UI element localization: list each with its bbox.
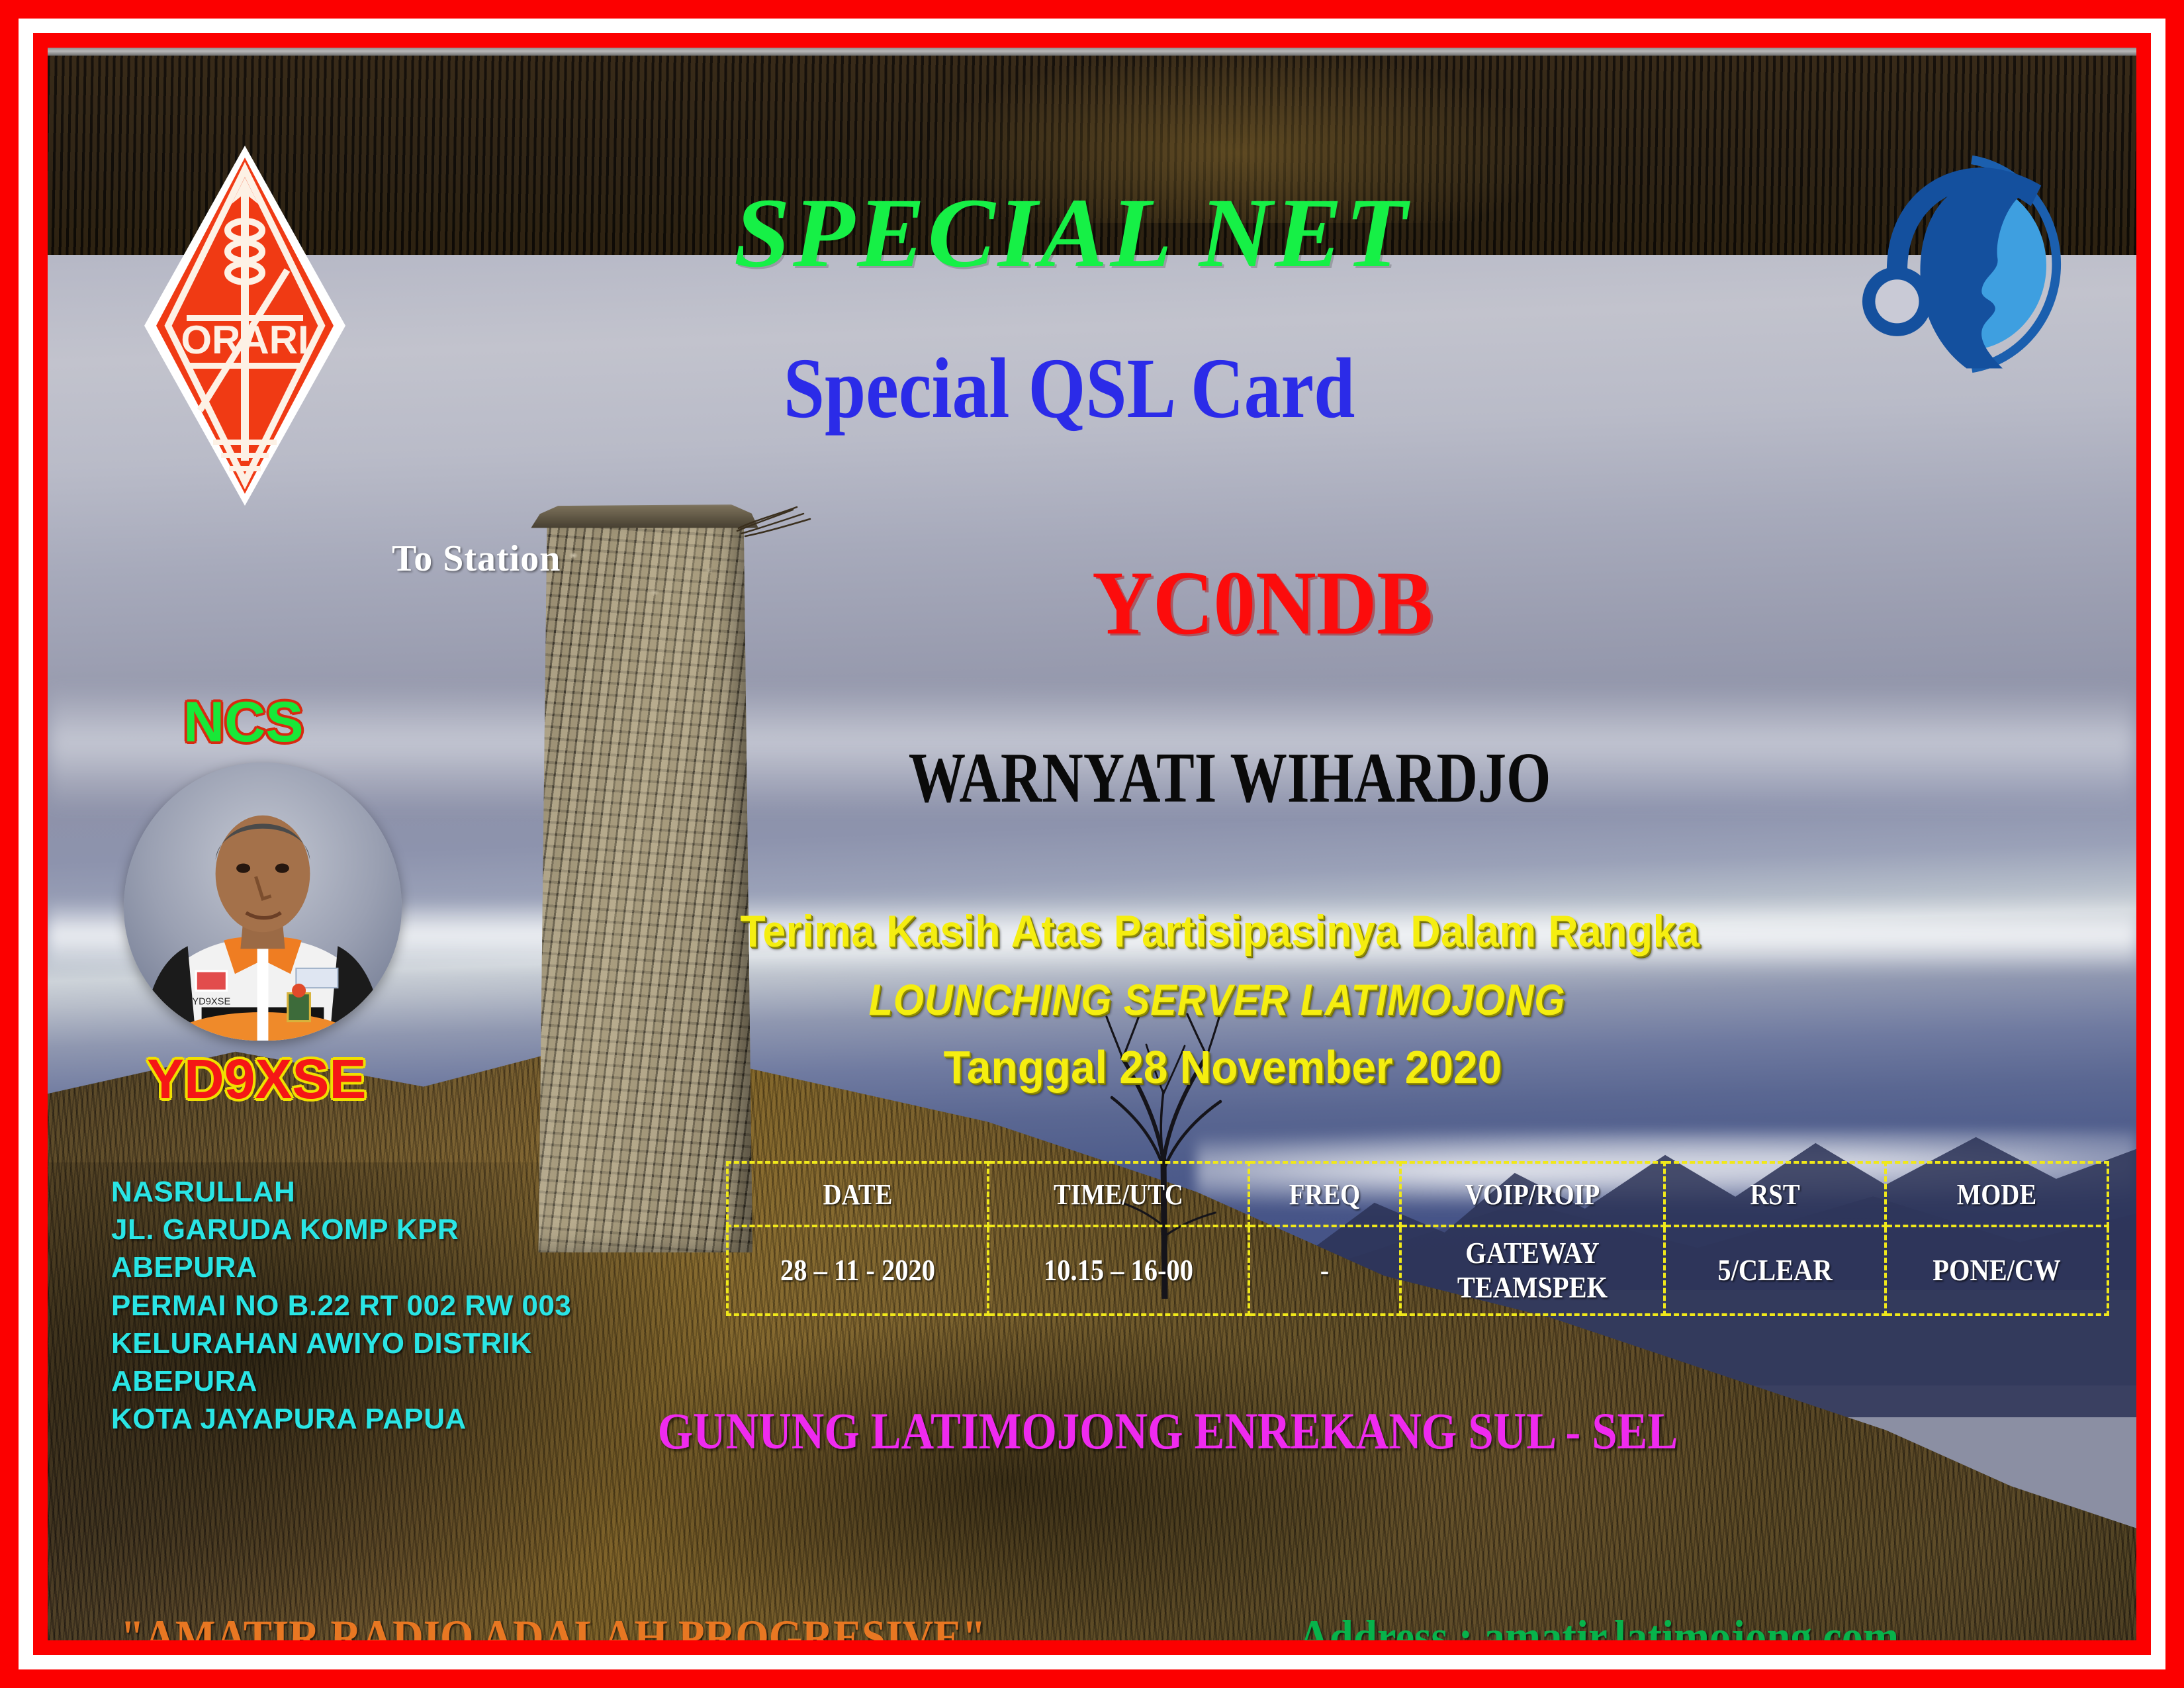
uniform-callsign-badge: YD9XSE bbox=[192, 996, 230, 1007]
cell-voip-line1: GATEWAY bbox=[1418, 1236, 1648, 1270]
card-white-frame: ORARI SPECIAL NET Special QSL Card To St… bbox=[19, 19, 2165, 1669]
column-header-date: DATE bbox=[743, 1162, 973, 1226]
address-line: PERMAI NO B.22 RT 002 RW 003 bbox=[111, 1287, 680, 1325]
bottom-grey-strip bbox=[48, 48, 2136, 56]
address-line: ABEPURA bbox=[111, 1362, 680, 1400]
cell-mode: PONE/CW bbox=[1899, 1226, 2095, 1315]
column-header-voip-roip: VOIP/ROIP bbox=[1416, 1162, 1649, 1226]
thanks-line-1: Terima Kasih Atas Partisipasinya Dalam R… bbox=[131, 906, 2053, 957]
column-header-mode: MODE bbox=[1899, 1162, 2095, 1226]
card-inner-red-frame: ORARI SPECIAL NET Special QSL Card To St… bbox=[33, 33, 2151, 1655]
thanks-line-2: LOUNCHING SERVER LATIMOJONG bbox=[152, 974, 2032, 1025]
cell-voip: GATEWAY TEAMSPEK bbox=[1416, 1226, 1649, 1315]
page-title: SPECIAL NET bbox=[48, 183, 2136, 283]
column-header-time-utc: TIME/UTC bbox=[1004, 1162, 1234, 1226]
operator-name: WARNYATI WIHARDJO bbox=[257, 743, 1928, 814]
card-photo-background: ORARI SPECIAL NET Special QSL Card To St… bbox=[48, 48, 2136, 1640]
address-line: KELURAHAN AWIYO DISTRIK bbox=[111, 1325, 680, 1362]
sender-address-block: NASRULLAH JL. GARUDA KOMP KPR ABEPURA PE… bbox=[111, 1173, 680, 1438]
event-location: GUNUNG LATIMOJONG ENREKANG SUL - SEL bbox=[173, 1401, 2011, 1461]
monument-cap bbox=[531, 504, 758, 528]
ncs-callsign: YD9XSE bbox=[147, 1047, 367, 1111]
address-line: ABEPURA bbox=[111, 1248, 680, 1286]
portrait-illustration: YD9XSE bbox=[124, 763, 402, 1041]
column-header-rst: RST bbox=[1678, 1162, 1872, 1226]
qsl-card: ORARI SPECIAL NET Special QSL Card To St… bbox=[0, 0, 2184, 1688]
column-header-freq: FREQ bbox=[1258, 1162, 1392, 1226]
motto-text: "AMATIR RADIO ADALAH PROGRESIVE" bbox=[120, 1610, 985, 1640]
cell-rst: 5/CLEAR bbox=[1678, 1226, 1872, 1315]
website-address: Address : amatir.latimojong.com bbox=[1298, 1610, 1899, 1640]
thanks-line-3: Tanggal 28 November 2020 bbox=[111, 1041, 2074, 1094]
ncs-label: NCS bbox=[183, 690, 304, 755]
table-row: 28 – 11 - 2020 10.15 – 16-00 - GATEWAY T… bbox=[727, 1226, 2108, 1315]
slope-shadow-mid bbox=[591, 1322, 1426, 1640]
address-line: NASRULLAH bbox=[111, 1173, 680, 1211]
table-header-row: DATE TIME/UTC FREQ VOIP/ROIP RST MODE bbox=[727, 1162, 2108, 1226]
ncs-operator-avatar: YD9XSE bbox=[124, 763, 402, 1041]
cell-date: 28 – 11 - 2020 bbox=[743, 1226, 973, 1315]
address-line: JL. GARUDA KOMP KPR bbox=[111, 1211, 680, 1248]
qso-log-table: DATE TIME/UTC FREQ VOIP/ROIP RST MODE 28… bbox=[726, 1161, 2109, 1316]
cell-freq: - bbox=[1258, 1226, 1392, 1315]
page-subtitle: Special QSL Card bbox=[194, 346, 1990, 432]
cell-time: 10.15 – 16-00 bbox=[1004, 1226, 1234, 1315]
monument-twigs-icon bbox=[736, 504, 822, 544]
recipient-callsign: YC0NDB bbox=[131, 557, 2053, 649]
cell-voip-line2: TEAMSPEK bbox=[1418, 1270, 1648, 1305]
